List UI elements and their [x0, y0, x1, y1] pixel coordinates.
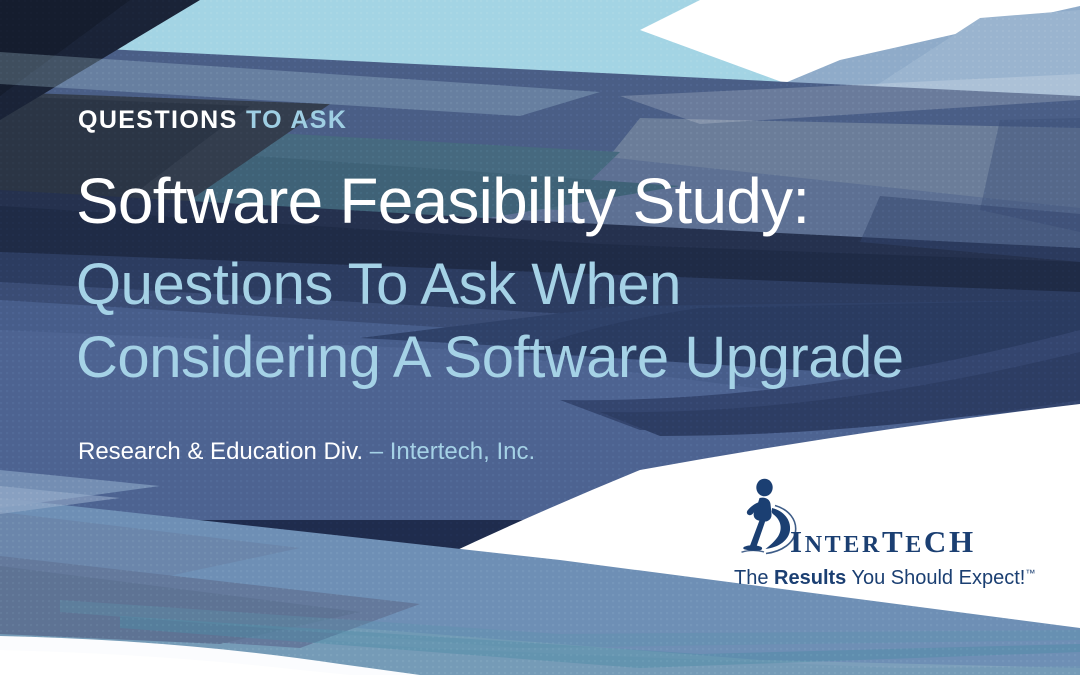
wordmark-h: H — [949, 524, 976, 559]
tagline-post: You Should Expect! — [846, 567, 1025, 589]
tagline-results: Results — [774, 567, 846, 589]
byline-company: – Intertech, Inc. — [370, 438, 535, 465]
wordmark-i: I — [790, 524, 805, 559]
wordmark-e: E — [905, 532, 924, 558]
eyebrow-label: QUESTIONS TO ASK — [78, 108, 347, 133]
subtitle-line-2: Considering A Software Upgrade — [76, 321, 904, 394]
eyebrow-strong: QUESTIONS — [78, 106, 238, 134]
eyebrow-light: TO ASK — [238, 106, 348, 134]
tagline-pre: The — [734, 567, 774, 589]
wordmark-c: C — [924, 524, 949, 559]
wordmark-nter: NTER — [805, 532, 882, 558]
slide-subtitle: Questions To Ask When Considering A Soft… — [76, 248, 904, 394]
subtitle-line-1: Questions To Ask When — [76, 248, 904, 321]
intertech-figure-mark-icon — [732, 478, 798, 560]
byline-division: Research & Education Div. — [78, 438, 370, 465]
slide-title: Software Feasibility Study: — [76, 168, 809, 236]
intertech-logo: INTERTECH The Results You Should Expect!… — [726, 478, 1026, 600]
slide-content: QUESTIONS TO ASK Software Feasibility St… — [0, 0, 1080, 675]
intertech-wordmark: INTERTECH — [790, 526, 976, 557]
intertech-tagline: The Results You Should Expect!™ — [734, 568, 1035, 588]
trademark-symbol: ™ — [1025, 568, 1035, 579]
wordmark-t: T — [882, 524, 905, 559]
presentation-slide: QUESTIONS TO ASK Software Feasibility St… — [0, 0, 1080, 675]
slide-byline: Research & Education Div. – Intertech, I… — [78, 440, 535, 464]
